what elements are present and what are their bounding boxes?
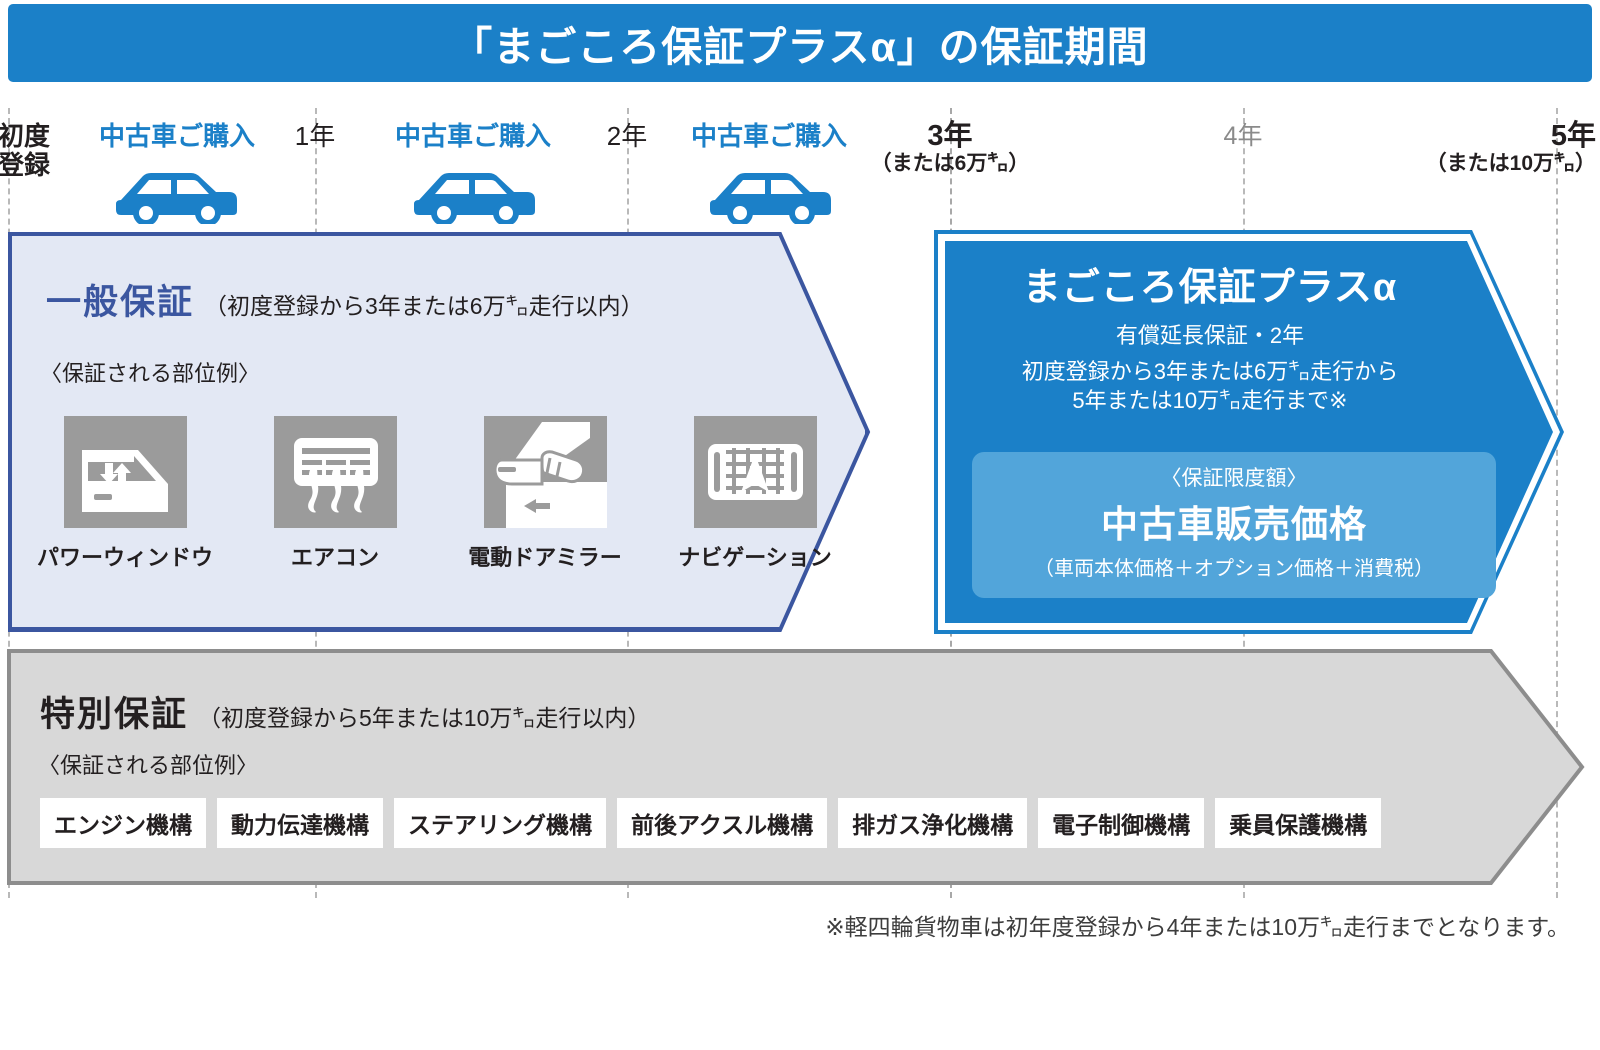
power-window-icon [64, 416, 187, 528]
timeline-mark-purchase-3: 中古車ご購入 [684, 122, 854, 151]
warranty-part-label: エアコン [291, 540, 379, 572]
door-mirror-icon [484, 416, 607, 528]
warranty-part-label: パワーウィンドウ [37, 540, 213, 572]
timeline-mark-initial-registration: 初度 登録 [0, 122, 78, 180]
warranty-part-air-conditioner: エアコン [250, 416, 420, 572]
warranty-limit-box: 〈保証限度額〉 中古車販売価格 （車両本体価格＋オプション価格＋消費税） [972, 452, 1496, 598]
warranty-tag: 前後アクスル機構 [617, 798, 827, 848]
warranty-part-label: 電動ドアミラー [468, 540, 622, 572]
plus-alpha-content: まごころ保証プラスα 有償延長保証・2年 初度登録から3年または6万㌔走行から … [960, 256, 1460, 416]
car-icon [411, 166, 539, 224]
warranty-part-label: ナビゲーション [678, 540, 832, 572]
general-warranty-examples-label: 〈保証される部位例〉 [40, 356, 260, 388]
special-warranty-period: （初度登録から5年または10万㌔走行以内） [198, 699, 650, 733]
warranty-part-power-window: パワーウィンドウ [40, 416, 210, 572]
warranty-tag: ステアリング機構 [394, 798, 606, 848]
special-warranty-tag-row: エンジン機構 動力伝達機構 ステアリング機構 前後アクスル機構 排ガス浄化機構 … [40, 798, 1381, 848]
timeline-mark-year-1: 1年 [270, 122, 360, 151]
warranty-part-door-mirror: 電動ドアミラー [460, 416, 630, 572]
general-warranty-period: （初度登録から3年または6万㌔走行以内） [204, 287, 644, 321]
timeline-mark-purchase-1: 中古車ご購入 [92, 122, 262, 151]
diagram-canvas: 「まごころ保証プラスα」の保証期間 初度 登録 中古車ご購入 1年 中古車ご購入… [0, 0, 1600, 1050]
page-title-bar: 「まごころ保証プラスα」の保証期間 [8, 4, 1592, 82]
timeline-mark-year-4: 4年 [1198, 122, 1288, 150]
car-icon [113, 166, 241, 224]
navigation-icon [694, 416, 817, 528]
warranty-tag: エンジン機構 [40, 798, 206, 848]
timeline-mark-year-2: 2年 [582, 122, 672, 151]
warranty-tag: 動力伝達機構 [217, 798, 383, 848]
plus-alpha-line-1: 初度登録から3年または6万㌔走行から [960, 357, 1460, 387]
special-warranty-examples-label: 〈保証される部位例〉 [38, 748, 258, 780]
timeline-mark-purchase-2: 中古車ご購入 [388, 122, 558, 151]
special-warranty-title: 特別保証 [40, 686, 188, 737]
warranty-limit-note: （車両本体価格＋オプション価格＋消費税） [972, 552, 1496, 581]
plus-alpha-subtitle: 有償延長保証・2年 [960, 321, 1460, 351]
general-warranty-icon-row: パワーウィンドウ エアコン [40, 416, 840, 572]
plus-alpha-line-2: 5年または10万㌔走行まで※ [960, 386, 1460, 416]
timeline-mark-year-5: 5年 （または10万㌔） [1360, 120, 1596, 176]
warranty-tag: 電子制御機構 [1038, 798, 1204, 848]
warranty-tag: 乗員保護機構 [1215, 798, 1381, 848]
warranty-limit-label: 〈保証限度額〉 [972, 462, 1496, 492]
footnote: ※軽四輪貨物車は初年度登録から4年または10万㌔走行までとなります。 [0, 908, 1570, 942]
air-conditioner-icon [274, 416, 397, 528]
special-warranty-heading: 特別保証 （初度登録から5年または10万㌔走行以内） [40, 686, 650, 737]
warranty-tag: 排ガス浄化機構 [838, 798, 1027, 848]
page-title: 「まごころ保証プラスα」の保証期間 [451, 13, 1148, 73]
general-warranty-heading: 一般保証 （初度登録から3年または6万㌔走行以内） [46, 274, 644, 325]
warranty-limit-value: 中古車販売価格 [972, 494, 1496, 548]
general-warranty-title: 一般保証 [46, 274, 194, 325]
car-icon [707, 166, 835, 224]
warranty-part-navigation: ナビゲーション [670, 416, 840, 572]
timeline-mark-year-3: 3年 （または6万㌔） [840, 120, 1060, 176]
plus-alpha-title: まごころ保証プラスα [960, 256, 1460, 311]
